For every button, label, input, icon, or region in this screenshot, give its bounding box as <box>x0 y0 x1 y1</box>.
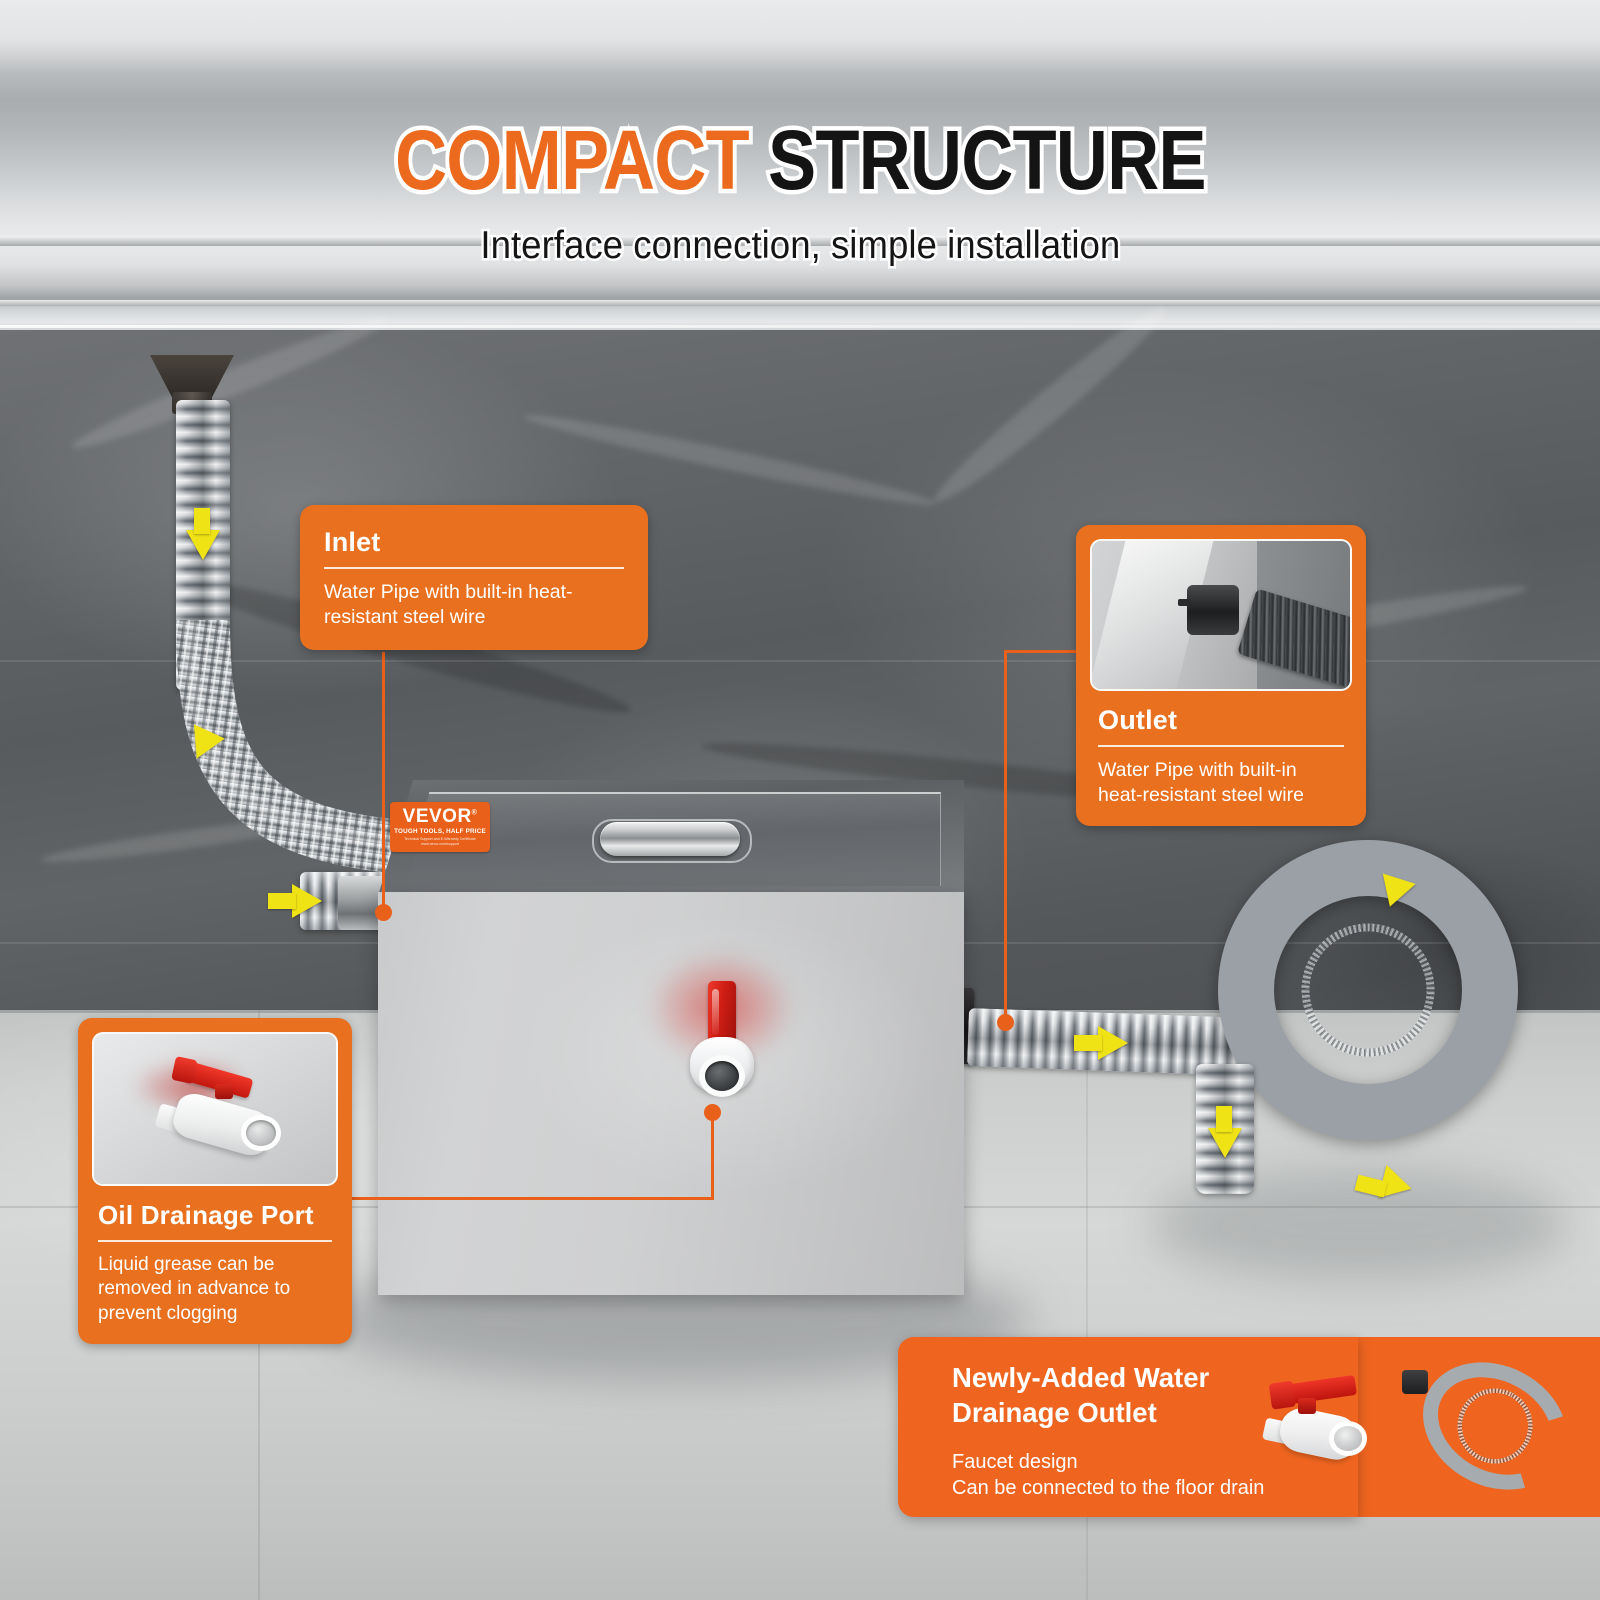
flow-arrow-down-3 <box>1208 1128 1242 1158</box>
header-block: COMPACT STRUCTURE Interface connection, … <box>0 118 1600 268</box>
callout-inlet-description: Water Pipe with built-in heat-resistant … <box>324 580 624 630</box>
flow-arrow-tail-3 <box>1074 1035 1102 1051</box>
callout-divider <box>1098 745 1344 747</box>
callout-outlet-title: Outlet <box>1098 705 1344 736</box>
flow-arrow-right-1 <box>292 884 322 918</box>
counter-edge-highlight-2 <box>0 300 1600 306</box>
grease-trap-unit: VEVOR® TOUGH TOOLS, HALF PRICE Technical… <box>378 780 964 1295</box>
hose-connector-photo <box>1090 539 1352 691</box>
leader-line-outlet-vertical <box>1004 650 1007 1022</box>
infographic-canvas: VEVOR® TOUGH TOOLS, HALF PRICE Technical… <box>0 0 1600 1600</box>
grease-trap-body <box>378 892 964 1295</box>
flow-arrow-down-1 <box>186 530 220 560</box>
leader-line-oil-vertical <box>711 1118 714 1200</box>
callout-oil-drainage-port[interactable]: Oil Drainage Port Liquid grease can be r… <box>78 1018 352 1344</box>
flow-arrow-tail-5 <box>1216 1106 1232 1132</box>
ball-valve-photo <box>92 1032 338 1186</box>
callout-oil-title: Oil Drainage Port <box>98 1200 332 1231</box>
leader-dot-outlet <box>997 1014 1014 1031</box>
callout-oil-description: Liquid grease can be removed in advance … <box>98 1253 332 1326</box>
brand-tagline: TOUGH TOOLS, HALF PRICE <box>394 828 486 835</box>
flow-arrow-tail-2 <box>268 893 296 909</box>
oil-drain-ball-valve <box>678 975 764 1105</box>
callout-outlet-description: Water Pipe with built-in heat-resistant … <box>1098 758 1344 808</box>
banner-title: Newly-Added Water Drainage Outlet <box>952 1361 1282 1430</box>
leader-dot-inlet <box>375 904 392 921</box>
callout-inlet[interactable]: Inlet Water Pipe with built-in heat-resi… <box>300 505 648 650</box>
leader-dot-oil <box>704 1104 721 1121</box>
title-highlight: COMPACT <box>395 113 749 207</box>
title-rest: STRUCTURE <box>748 113 1205 207</box>
valve-outlet-mouth <box>705 1061 739 1091</box>
vevor-logo-sticker: VEVOR® TOUGH TOOLS, HALF PRICE Technical… <box>390 802 490 852</box>
callout-divider <box>324 567 624 569</box>
brand-name: VEVOR® <box>403 807 478 826</box>
callout-divider <box>98 1240 332 1242</box>
leader-line-inlet <box>382 652 385 914</box>
leader-line-outlet-horizontal <box>1004 650 1080 653</box>
outlet-hose-loop <box>1218 840 1518 1140</box>
brand-fineprint: Technical Support and E-Warranty Certifi… <box>390 837 490 847</box>
banner-hose-image <box>1402 1366 1572 1491</box>
leader-line-oil-horizontal <box>352 1197 714 1200</box>
page-subtitle: Interface connection, simple installatio… <box>480 224 1120 268</box>
lid-handle <box>600 822 740 856</box>
callout-outlet[interactable]: Outlet Water Pipe with built-in heat-res… <box>1076 525 1366 826</box>
flow-arrow-tail-1 <box>194 508 210 534</box>
callout-inlet-title: Inlet <box>324 527 624 558</box>
banner-ball-valve-image <box>1264 1376 1384 1480</box>
flow-arrow-right-2 <box>1098 1026 1128 1060</box>
page-title: COMPACT STRUCTURE <box>395 118 1206 202</box>
